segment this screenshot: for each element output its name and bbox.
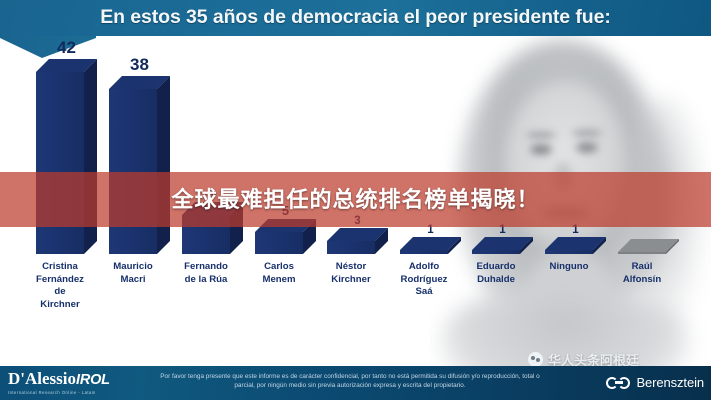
footer-bar: D'AlessioIROL International Research Onl… [0,366,711,400]
category-label-7: EduardoDuhalde [454,258,538,366]
berensztein-logo: Berensztein [606,375,704,390]
logo-prefix: D'Alessio [8,369,76,388]
category-label-line: Ninguno [527,261,611,274]
category-label-line: Eduardo [454,261,538,274]
category-label-1: CristinaFernándezdeKirchner [18,258,102,366]
bar-solid [618,239,679,254]
category-label-2: MauricioMacri [91,258,175,366]
bar-solid [400,237,461,254]
dalessio-irol-logo-text: D'AlessioIROL [8,370,140,389]
dalessio-irol-logo: D'AlessioIROL International Research Onl… [8,370,140,395]
category-label-line: de la Rúa [164,274,248,287]
category-label-line: Alfonsín [600,274,684,287]
category-label-line: Duhalde [454,274,538,287]
dalessio-irol-logo-subtitle: International Research Online - Latam [8,390,140,395]
page-title: En estos 35 años de democracia el peor p… [0,0,711,36]
category-label-5: NéstorKirchner [309,258,393,366]
category-label-line: Macri [91,274,175,287]
bar-solid [545,237,606,254]
logo-suffix: IROL [76,372,110,388]
bar-front-face [472,250,520,254]
bar-solid [327,228,388,254]
bar-front-face [255,232,303,254]
bar-solid [472,237,533,254]
bar-side-face [157,76,170,254]
bar-front-face [327,241,375,254]
bar-front-face [400,250,448,254]
bar-front-face [545,250,593,254]
category-label-line: Mauricio [91,261,175,274]
bar-solid [109,76,170,254]
bar-front-face [618,252,666,254]
bar-value-label: 42 [36,38,97,58]
category-label-line: Néstor [309,261,393,274]
watermark-logo-icon [528,352,543,367]
infographic-poster: En estos 35 años de democracia el peor p… [0,0,711,400]
berensztein-mark-icon [606,377,632,389]
category-label-line: Cristina [18,261,102,274]
bar-value-label: 38 [109,55,170,75]
category-label-line: Fernández [18,274,102,287]
category-label-line: Raúl [600,261,684,274]
category-label-line: Kirchner [18,299,102,312]
category-label-3: Fernandode la Rúa [164,258,248,366]
category-label-line: Kirchner [309,274,393,287]
category-label-line: Fernando [164,261,248,274]
overlay-banner-text: 全球最难担任的总统排名榜单揭晓！ [0,172,711,227]
category-label-line: de [18,286,102,299]
confidentiality-disclaimer: Por favor tenga presente que este inform… [150,372,550,390]
berensztein-logo-text: Berensztein [636,375,704,390]
